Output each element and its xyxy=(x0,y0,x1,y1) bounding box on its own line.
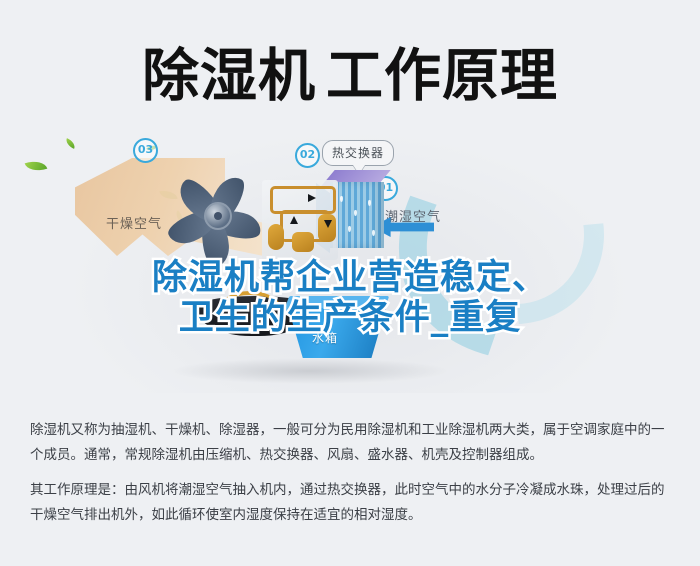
step-badge-03: 03 xyxy=(133,138,158,163)
water-tank-label: 水箱 xyxy=(312,329,338,346)
fan-unit xyxy=(168,166,272,262)
infographic-page: 除湿机工作原理 干燥空气 03 潮湿空气 01 02 热交换器 xyxy=(0,0,700,566)
body-paragraph-1: 除湿机又称为抽湿机、干燥机、除湿器，一般可分为民用除湿机和工业除湿机两大类，属于… xyxy=(30,418,672,468)
title-part-2: 工作原理 xyxy=(326,43,558,109)
title-part-1: 除湿机 xyxy=(142,43,316,109)
flow-arrow-icon xyxy=(324,220,332,228)
dry-air-label: 干燥空气 xyxy=(106,213,162,232)
humid-air-label: 潮湿空气 xyxy=(385,206,441,225)
compressor-coil-unit xyxy=(262,180,342,265)
coil-canister xyxy=(318,214,336,242)
diagram-illustration: 干燥空气 03 潮湿空气 01 02 热交换器 xyxy=(0,118,700,403)
flow-arrow-icon xyxy=(308,194,316,202)
flow-arrow-icon xyxy=(290,216,298,224)
coil-canister xyxy=(292,232,314,252)
body-paragraph-2: 其工作原理是：由风机将潮湿空气抽入机内，通过热交换器，此时空气中的水分子冷凝成水… xyxy=(30,478,672,528)
leaf-icon xyxy=(25,157,48,175)
heat-exchanger-callout: 热交换器 xyxy=(322,140,394,166)
fan-hub-center xyxy=(214,212,222,220)
page-title: 除湿机工作原理 xyxy=(0,30,700,112)
condensation-drop xyxy=(348,226,351,232)
condensation-drop xyxy=(354,210,357,216)
condensation-drop xyxy=(372,230,375,236)
fan-hub xyxy=(204,202,232,230)
step-badge-02: 02 xyxy=(295,143,320,168)
condensation-drop xyxy=(368,200,371,206)
diagram-ground-shadow xyxy=(170,358,450,384)
water-tank: 水箱 xyxy=(282,296,390,362)
